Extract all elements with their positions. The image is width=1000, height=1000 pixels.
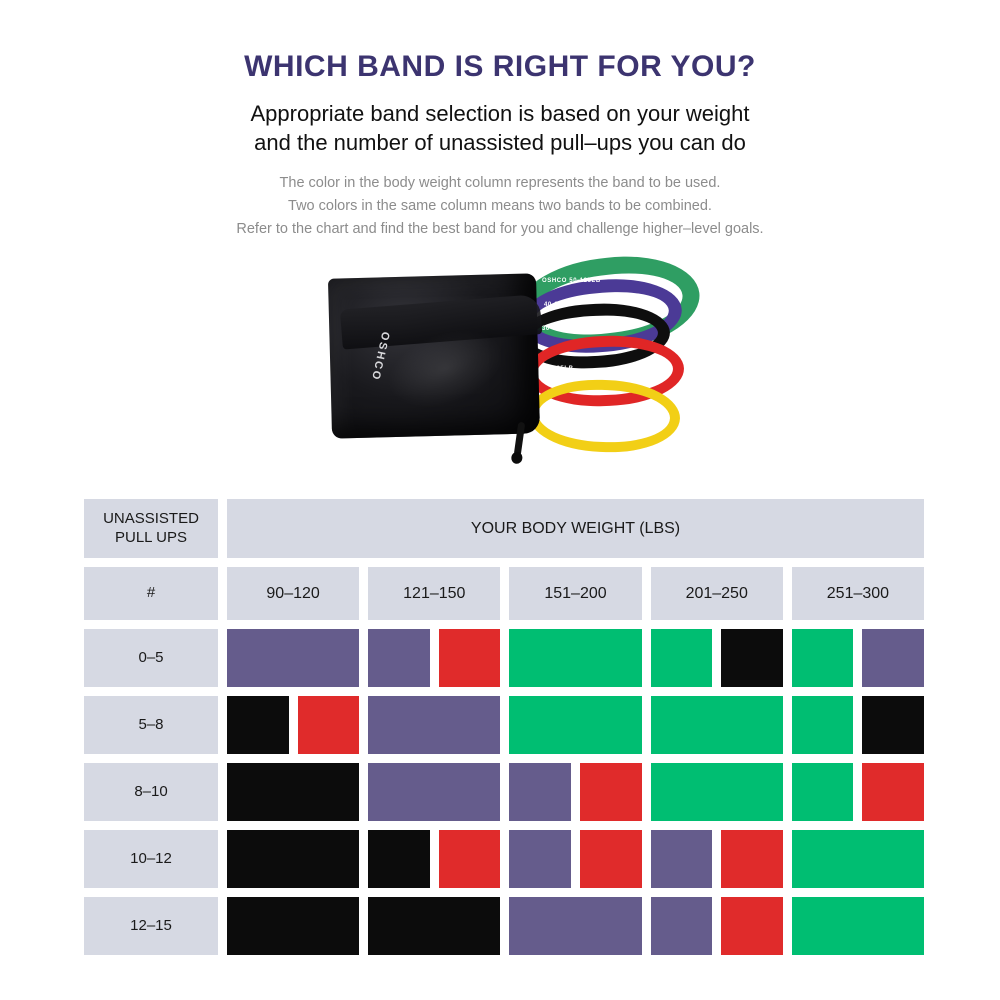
band-swatch-green <box>792 763 854 821</box>
band-cell-r1-c1 <box>368 696 500 754</box>
band-cell-r3-c1 <box>368 830 500 888</box>
band-label-green: OSHCO 50-125LB <box>542 278 601 284</box>
band-cell-r4-c4 <box>792 897 924 955</box>
band-swatch-black <box>227 830 359 888</box>
table-body: 0–55–88–1010–1212–15 <box>84 629 924 955</box>
band-selection-table: UNASSISTED PULL UPS YOUR BODY WEIGHT (LB… <box>84 499 924 955</box>
table-row: 5–8 <box>84 696 924 754</box>
table-header-row-group: UNASSISTED PULL UPS YOUR BODY WEIGHT (LB… <box>84 499 924 558</box>
band-swatch-green <box>651 763 783 821</box>
table-row: 10–12 <box>84 830 924 888</box>
band-label-purple: 40-80LB <box>544 302 572 308</box>
band-swatch-black <box>862 696 924 754</box>
page-notes: The color in the body weight column repr… <box>0 172 1000 242</box>
corner-header-line-1: UNASSISTED <box>103 510 199 528</box>
band-cell-r0-c0 <box>227 629 359 687</box>
subtitle-line-2: and the number of unassisted pull–ups yo… <box>140 128 860 157</box>
group-header-cell: YOUR BODY WEIGHT (LBS) <box>227 499 924 558</box>
band-swatch-green <box>792 830 924 888</box>
corner-header-line-2: PULL UPS <box>103 529 199 547</box>
band-cell-r0-c1 <box>368 629 500 687</box>
band-swatch-purple <box>651 830 713 888</box>
band-cell-r3-c4 <box>792 830 924 888</box>
band-swatch-red <box>439 629 501 687</box>
band-label-red: 15-35LB <box>546 366 574 372</box>
band-swatch-red <box>298 696 360 754</box>
column-header-3: 201–250 <box>651 567 783 620</box>
band-swatch-black <box>368 897 500 955</box>
band-swatch-black <box>368 830 430 888</box>
corner-header-cell: UNASSISTED PULL UPS <box>84 499 218 558</box>
band-swatch-purple <box>227 629 359 687</box>
band-label-black: 30-60LB <box>542 326 570 332</box>
band-swatch-black <box>227 696 289 754</box>
band-cell-r2-c2 <box>509 763 641 821</box>
band-cell-r2-c0 <box>227 763 359 821</box>
band-swatch-green <box>509 696 641 754</box>
band-swatch-green <box>792 696 854 754</box>
band-swatch-purple <box>862 629 924 687</box>
drawstring-bag: OSHCO <box>328 273 540 438</box>
band-cell-r2-c3 <box>651 763 783 821</box>
band-cell-r2-c1 <box>368 763 500 821</box>
band-swatch-red <box>721 897 783 955</box>
band-swatch-green <box>651 629 713 687</box>
band-swatch-purple <box>368 629 430 687</box>
band-swatch-green <box>509 629 641 687</box>
band-swatch-green <box>651 696 783 754</box>
band-cell-r0-c2 <box>509 629 641 687</box>
band-swatch-red <box>862 763 924 821</box>
subtitle-line-1: Appropriate band selection is based on y… <box>140 99 860 128</box>
band-swatch-purple <box>368 696 500 754</box>
band-cell-r0-c3 <box>651 629 783 687</box>
note-line-2: Two colors in the same column means two … <box>0 195 1000 218</box>
band-cell-r1-c4 <box>792 696 924 754</box>
row-label-cell: 10–12 <box>84 830 218 888</box>
band-swatch-purple <box>509 897 641 955</box>
band-swatch-red <box>580 763 642 821</box>
column-header-1: 121–150 <box>368 567 500 620</box>
band-cell-r3-c3 <box>651 830 783 888</box>
band-swatch-black <box>227 897 359 955</box>
product-photo: OSHCO OSHCO 50-125LB 40-80LB 30-60LB 15-… <box>320 254 680 469</box>
band-swatch-red <box>580 830 642 888</box>
column-header-2: 151–200 <box>509 567 641 620</box>
band-cell-r4-c2 <box>509 897 641 955</box>
band-cell-r2-c4 <box>792 763 924 821</box>
band-cell-r3-c2 <box>509 830 641 888</box>
note-line-1: The color in the body weight column repr… <box>0 172 1000 195</box>
table-row: 12–15 <box>84 897 924 955</box>
band-swatch-purple <box>509 830 571 888</box>
table-row: 0–5 <box>84 629 924 687</box>
band-swatch-green <box>792 629 854 687</box>
band-swatch-black <box>721 629 783 687</box>
band-swatch-purple <box>368 763 500 821</box>
note-line-3: Refer to the chart and find the best ban… <box>0 218 1000 241</box>
column-header-4: 251–300 <box>792 567 924 620</box>
band-cell-r1-c2 <box>509 696 641 754</box>
row-label-cell: 5–8 <box>84 696 218 754</box>
table-row: 8–10 <box>84 763 924 821</box>
band-swatch-red <box>439 830 501 888</box>
band-cell-r1-c0 <box>227 696 359 754</box>
band-cell-r4-c1 <box>368 897 500 955</box>
page-header: WHICH BAND IS RIGHT FOR YOU? Appropriate… <box>0 0 1000 242</box>
page-title: WHICH BAND IS RIGHT FOR YOU? <box>0 50 1000 83</box>
unit-header-cell: # <box>84 567 218 620</box>
column-header-0: 90–120 <box>227 567 359 620</box>
band-cell-r4-c0 <box>227 897 359 955</box>
table-header-row-columns: # 90–120 121–150 151–200 201–250 251–300 <box>84 567 924 620</box>
band-swatch-red <box>721 830 783 888</box>
row-label-cell: 12–15 <box>84 897 218 955</box>
band-swatch-purple <box>651 897 713 955</box>
row-label-cell: 0–5 <box>84 629 218 687</box>
band-cell-r3-c0 <box>227 830 359 888</box>
page-subtitle: Appropriate band selection is based on y… <box>140 99 860 158</box>
band-cell-r1-c3 <box>651 696 783 754</box>
band-cell-r4-c3 <box>651 897 783 955</box>
band-cell-r0-c4 <box>792 629 924 687</box>
band-swatch-black <box>227 763 359 821</box>
row-label-cell: 8–10 <box>84 763 218 821</box>
band-swatch-green <box>792 897 924 955</box>
band-swatch-purple <box>509 763 571 821</box>
